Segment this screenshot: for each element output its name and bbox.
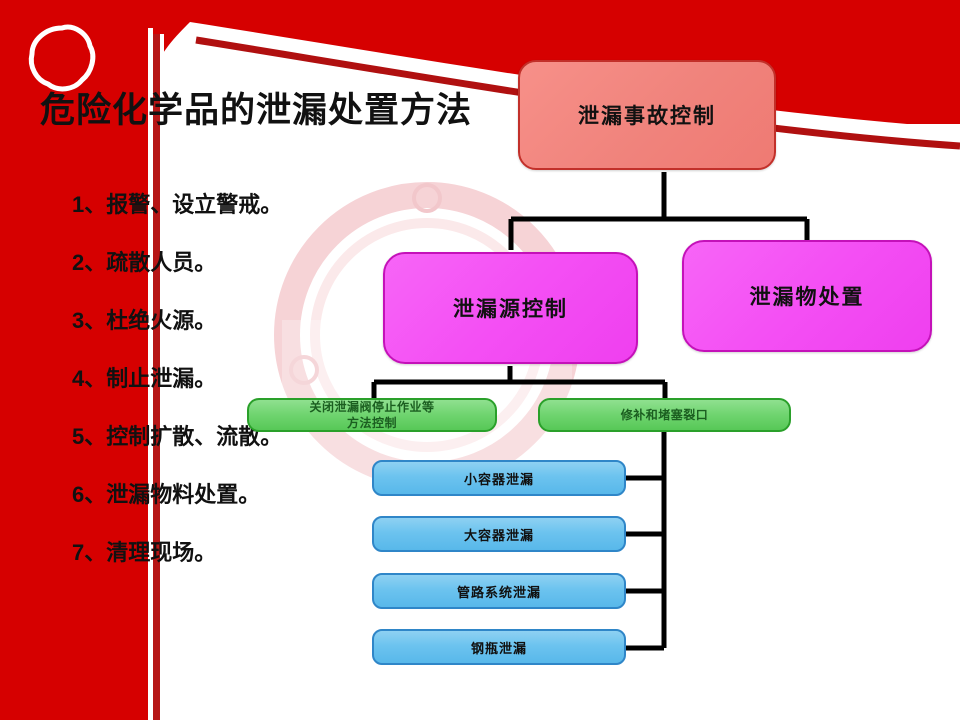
node-close-valve-method[interactable]: 关闭泄漏阀停止作业等 方法控制 xyxy=(247,398,497,432)
flow-diagram: 泄漏事故控制 泄漏源控制 泄漏物处置 关闭泄漏阀停止作业等 方法控制 修补和堵塞… xyxy=(0,0,960,720)
node-small-container-leak[interactable]: 小容器泄漏 xyxy=(372,460,626,496)
green-line-1: 关闭泄漏阀停止作业等 xyxy=(309,400,434,414)
node-leak-accident-control[interactable]: 泄漏事故控制 xyxy=(518,60,776,170)
node-pipeline-system-leak[interactable]: 管路系统泄漏 xyxy=(372,573,626,609)
node-repair-and-plug-crack[interactable]: 修补和堵塞裂口 xyxy=(538,398,791,432)
node-leak-source-control[interactable]: 泄漏源控制 xyxy=(383,252,638,364)
slide-canvas: 危险化学品的泄漏处置方法 1、报警、设立警戒。 2、疏散人员。 3、杜绝火源。 … xyxy=(0,0,960,720)
node-large-container-leak[interactable]: 大容器泄漏 xyxy=(372,516,626,552)
green-line-2: 方法控制 xyxy=(347,416,397,430)
node-leak-material-disposal[interactable]: 泄漏物处置 xyxy=(682,240,932,352)
node-gas-cylinder-leak[interactable]: 钢瓶泄漏 xyxy=(372,629,626,665)
